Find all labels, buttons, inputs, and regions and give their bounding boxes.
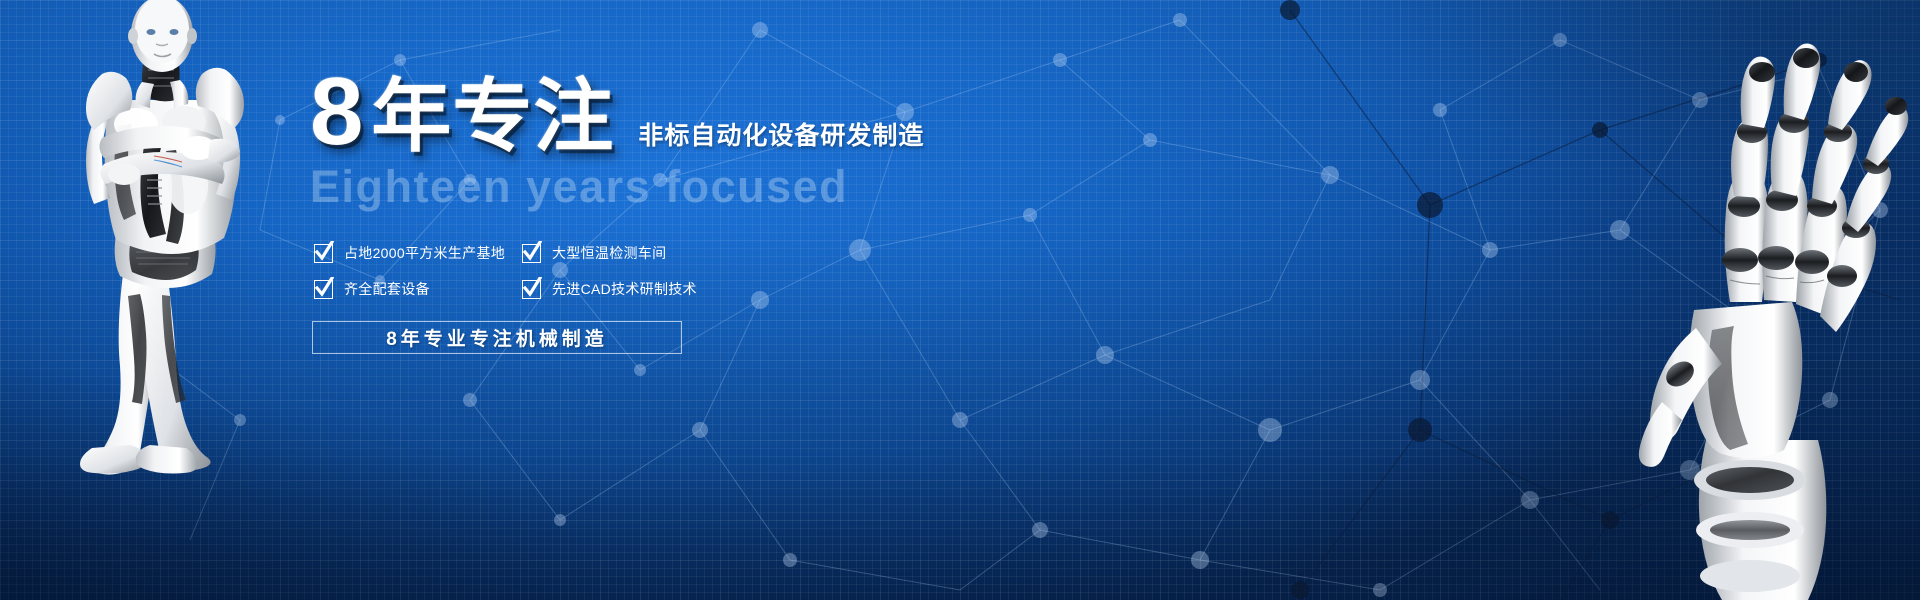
robotic-hand-figure <box>1584 10 1914 600</box>
feature-label: 大型恒温检测车间 <box>552 243 666 263</box>
promo-banner: 8年专注 非标自动化设备研发制造 Eighteen years focused … <box>0 0 1920 600</box>
feature-item: 大型恒温检测车间 <box>522 243 782 263</box>
headline-number: 8 <box>310 58 371 165</box>
check-icon <box>522 280 541 299</box>
slogan-box: 8年专业专注机械制造 <box>312 321 682 354</box>
feature-label: 齐全配套设备 <box>344 279 430 299</box>
feature-item: 齐全配套设备 <box>314 279 522 299</box>
headline-subtitle: 非标自动化设备研发制造 <box>638 116 924 152</box>
slogan-text: 8年专业专注机械制造 <box>386 324 608 351</box>
feature-label: 先进CAD技术研制技术 <box>552 279 697 299</box>
feature-item: 先进CAD技术研制技术 <box>522 279 782 299</box>
feature-item: 占地2000平方米生产基地 <box>314 243 522 263</box>
banner-content: 8年专注 非标自动化设备研发制造 Eighteen years focused … <box>310 72 1010 354</box>
check-icon <box>314 244 333 263</box>
headline-english: Eighteen years focused <box>310 164 1010 209</box>
feature-list: 占地2000平方米生产基地 大型恒温检测车间 齐全配套设备 <box>314 237 1010 305</box>
check-icon <box>522 244 541 263</box>
humanoid-robot-figure <box>58 0 268 486</box>
headline: 8年专注 <box>310 66 614 158</box>
headline-row: 8年专注 非标自动化设备研发制造 <box>310 72 1010 158</box>
headline-text: 年专注 <box>371 72 614 161</box>
feature-label: 占地2000平方米生产基地 <box>344 243 505 263</box>
check-icon <box>314 280 333 299</box>
